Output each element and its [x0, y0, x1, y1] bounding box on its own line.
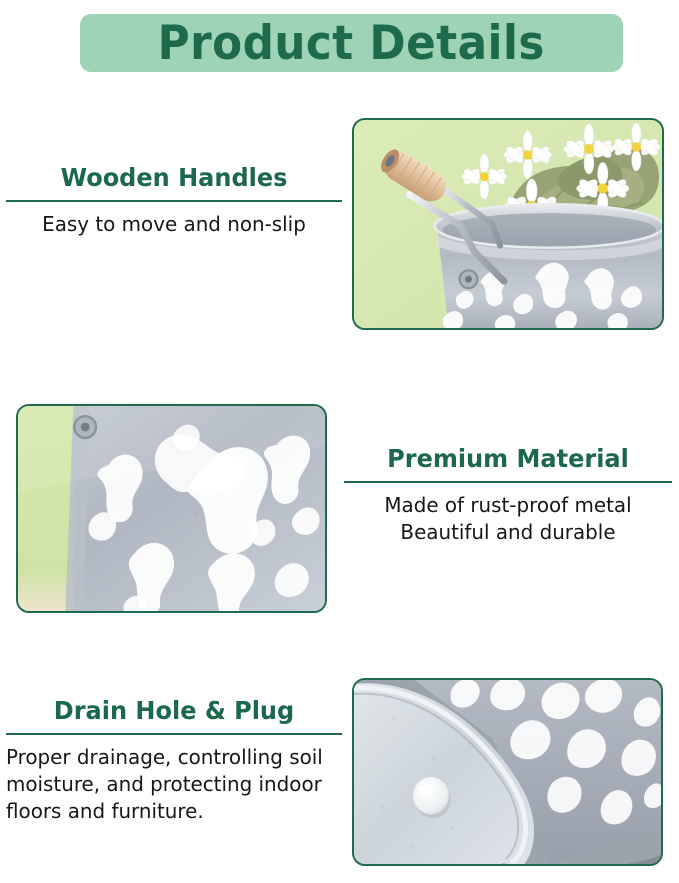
feature-rule-3	[6, 733, 342, 735]
feature-body-2: Made of rust-proof metal Beautiful and d…	[349, 492, 667, 546]
planter-with-handle-illustration	[354, 120, 662, 328]
feature-body-line: Beautiful and durable	[349, 519, 667, 546]
feature-body-line: moisture, and protecting indoor	[6, 771, 332, 798]
drain-plug-illustration	[354, 680, 661, 864]
feature-heading-2: Premium Material	[351, 444, 666, 474]
feature-body-line: Easy to move and non-slip	[11, 211, 337, 238]
page-title-banner: Product Details	[80, 14, 623, 72]
metal-bucket	[435, 204, 662, 328]
feature-heading-1: Wooden Handles	[13, 163, 336, 193]
feature-body-line: floors and furniture.	[6, 798, 332, 825]
embossed-texture-illustration	[18, 406, 325, 611]
feature-block-premium-material: Premium Material Made of rust-proof meta…	[344, 444, 672, 546]
feature-image-wooden-handles	[352, 118, 664, 330]
product-details-infographic: Product Details Wooden Handles Easy to m…	[0, 0, 679, 883]
feature-heading-3: Drain Hole & Plug	[13, 696, 336, 726]
feature-body-3: Proper drainage, controlling soil moistu…	[6, 744, 332, 825]
feature-block-wooden-handles: Wooden Handles Easy to move and non-slip	[6, 163, 342, 238]
feature-body-1: Easy to move and non-slip	[11, 211, 337, 238]
feature-rule-1	[6, 200, 342, 202]
page-title: Product Details	[158, 20, 545, 67]
feature-image-drain-hole-plug	[352, 678, 663, 866]
feature-block-drain-hole-plug: Drain Hole & Plug Proper drainage, contr…	[6, 696, 342, 825]
feature-body-line: Proper drainage, controlling soil	[6, 744, 332, 771]
feature-body-line: Made of rust-proof metal	[349, 492, 667, 519]
feature-rule-2	[344, 481, 672, 483]
feature-image-premium-material	[16, 404, 327, 613]
